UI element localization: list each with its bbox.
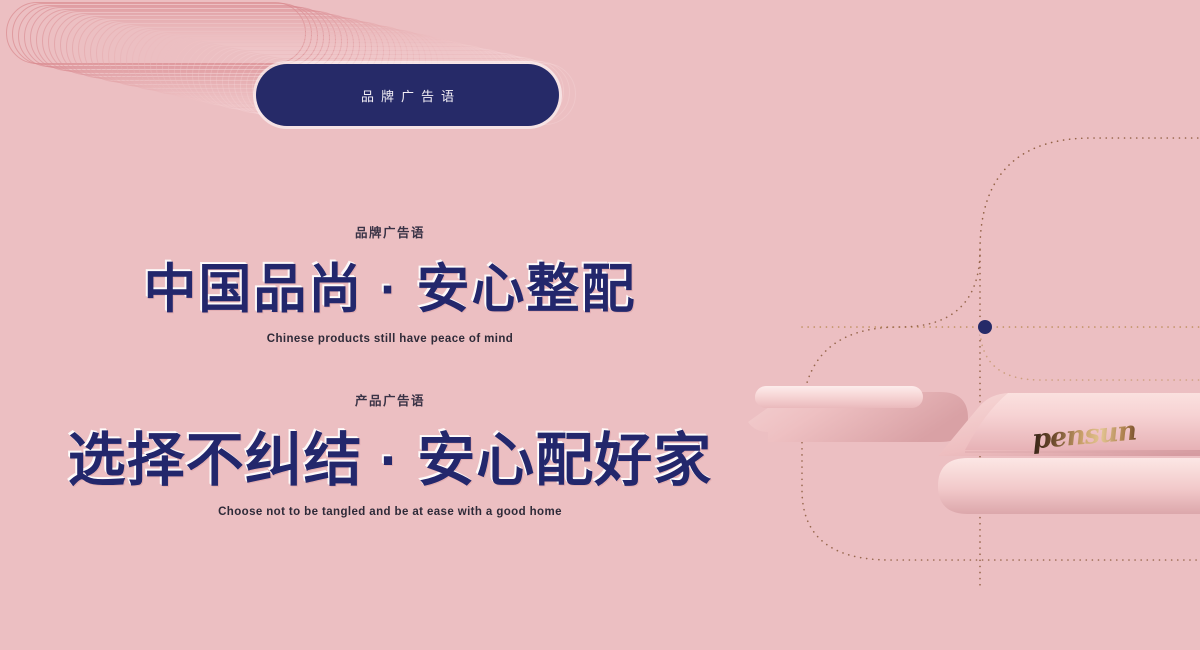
extrusion-ring — [42, 10, 342, 72]
product-slogan-block: 产品广告语 选择不纠结 · 安心配好家 Choose not to be tan… — [0, 390, 780, 518]
dotted-path-lower — [802, 250, 1200, 560]
extrusion-ring — [24, 6, 324, 68]
pensun-wordmark: pensun — [1031, 416, 1137, 456]
product-slogan-eyebrow: 产品广告语 — [0, 390, 780, 409]
dotted-path-upper — [980, 138, 1200, 590]
node-dot — [978, 320, 992, 334]
brand-slogan-headline: 中国品尚 · 安心整配 — [0, 263, 780, 317]
dotted-path-node-branch — [980, 327, 1200, 380]
extrusion-ring — [18, 5, 318, 67]
product-slogan-headline: 选择不纠结 · 安心配好家 — [0, 431, 780, 490]
poster-canvas: pensun 品牌广告语 品牌广告语 中国品尚 · 安心整配 Chinese p… — [0, 0, 1200, 650]
ribbon-small-top-rect — [755, 386, 923, 408]
brand-slogan-subline: Chinese products still have peace of min… — [0, 333, 780, 345]
extrusion-ring — [6, 2, 306, 64]
brand-slogan-block: 品牌广告语 中国品尚 · 安心整配 Chinese products still… — [0, 222, 780, 345]
extrusion-ring — [30, 7, 330, 69]
extrusion-ring — [36, 9, 336, 71]
product-slogan-subline: Choose not to be tangled and be at ease … — [0, 506, 780, 518]
ribbon-large-bottom — [938, 458, 1200, 514]
dotted-path-decoration — [740, 90, 1200, 590]
brand-slogan-badge-label: 品牌广告语 — [354, 86, 461, 105]
brand-slogan-eyebrow: 品牌广告语 — [0, 222, 780, 241]
ribbon-small-body — [748, 392, 968, 442]
brand-slogan-badge[interactable]: 品牌广告语 — [256, 64, 559, 126]
extrusion-ring — [12, 3, 312, 65]
